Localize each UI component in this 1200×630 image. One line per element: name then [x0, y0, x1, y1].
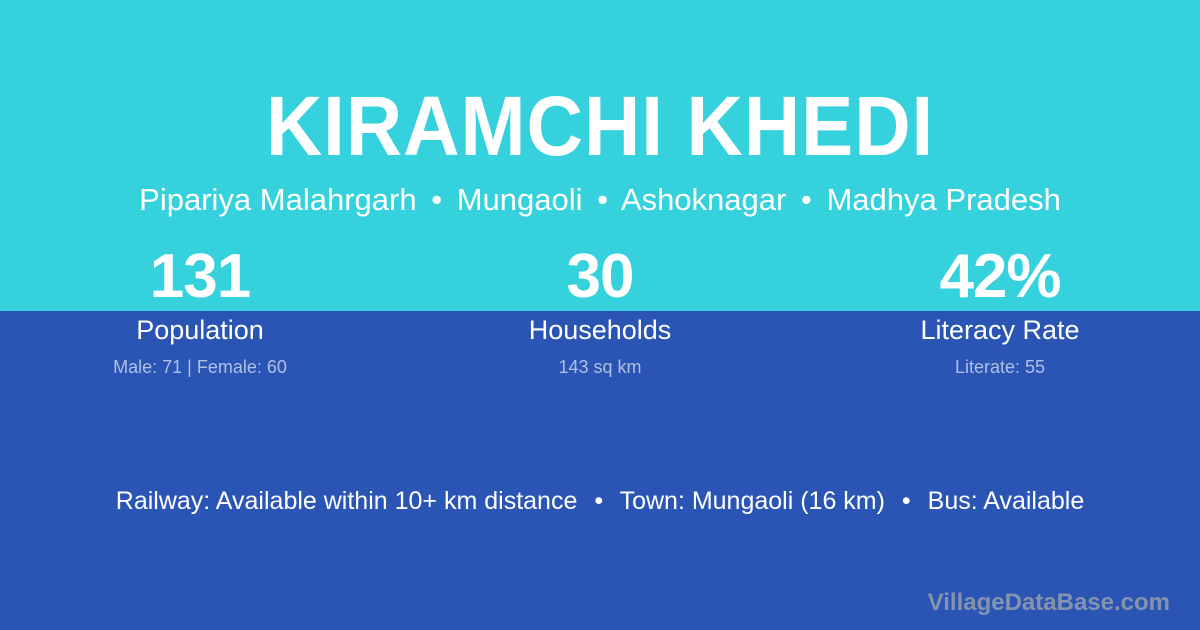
breadcrumb-part-district: Ashoknagar — [621, 182, 786, 217]
stat-label: Households — [400, 313, 800, 347]
breadcrumb-separator: • — [795, 182, 818, 217]
breadcrumb-separator: • — [591, 182, 614, 217]
stat-value: 30 — [400, 243, 800, 311]
stat-sublabel: Male: 71 | Female: 60 — [0, 354, 400, 380]
stat-sublabel: Literate: 55 — [800, 354, 1200, 380]
facilities-line: Railway: Available within 10+ km distanc… — [0, 484, 1200, 518]
village-info-card: KIRAMCHI KHEDI Pipariya Malahrgarh • Mun… — [0, 0, 1200, 630]
stat-value: 131 — [0, 243, 400, 311]
stats-row: 131 Population Male: 71 | Female: 60 30 … — [0, 243, 1200, 380]
breadcrumb-part-subdistrict-village: Pipariya Malahrgarh — [139, 182, 416, 217]
stat-literacy-rate: 42% Literacy Rate Literate: 55 — [800, 243, 1200, 380]
stat-sublabel: 143 sq km — [400, 354, 800, 380]
stat-population: 131 Population Male: 71 | Female: 60 — [0, 243, 400, 380]
breadcrumb-part-block: Mungaoli — [457, 182, 583, 217]
facility-town: Town: Mungaoli (16 km) — [620, 487, 885, 515]
facility-railway: Railway: Available within 10+ km distanc… — [116, 487, 578, 515]
breadcrumb: Pipariya Malahrgarh • Mungaoli • Ashokna… — [0, 180, 1200, 220]
facility-separator: • — [892, 487, 921, 515]
facility-separator: • — [584, 487, 613, 515]
breadcrumb-separator: • — [425, 182, 448, 217]
facility-bus: Bus: Available — [928, 487, 1085, 515]
stat-value: 42% — [800, 243, 1200, 311]
breadcrumb-part-state: Madhya Pradesh — [826, 182, 1060, 217]
stat-label: Population — [0, 313, 400, 347]
page-title: KIRAMCHI KHEDI — [42, 78, 1158, 174]
stat-households: 30 Households 143 sq km — [400, 243, 800, 380]
stat-label: Literacy Rate — [800, 313, 1200, 347]
site-brand-watermark: VillageDataBase.com — [928, 588, 1170, 618]
